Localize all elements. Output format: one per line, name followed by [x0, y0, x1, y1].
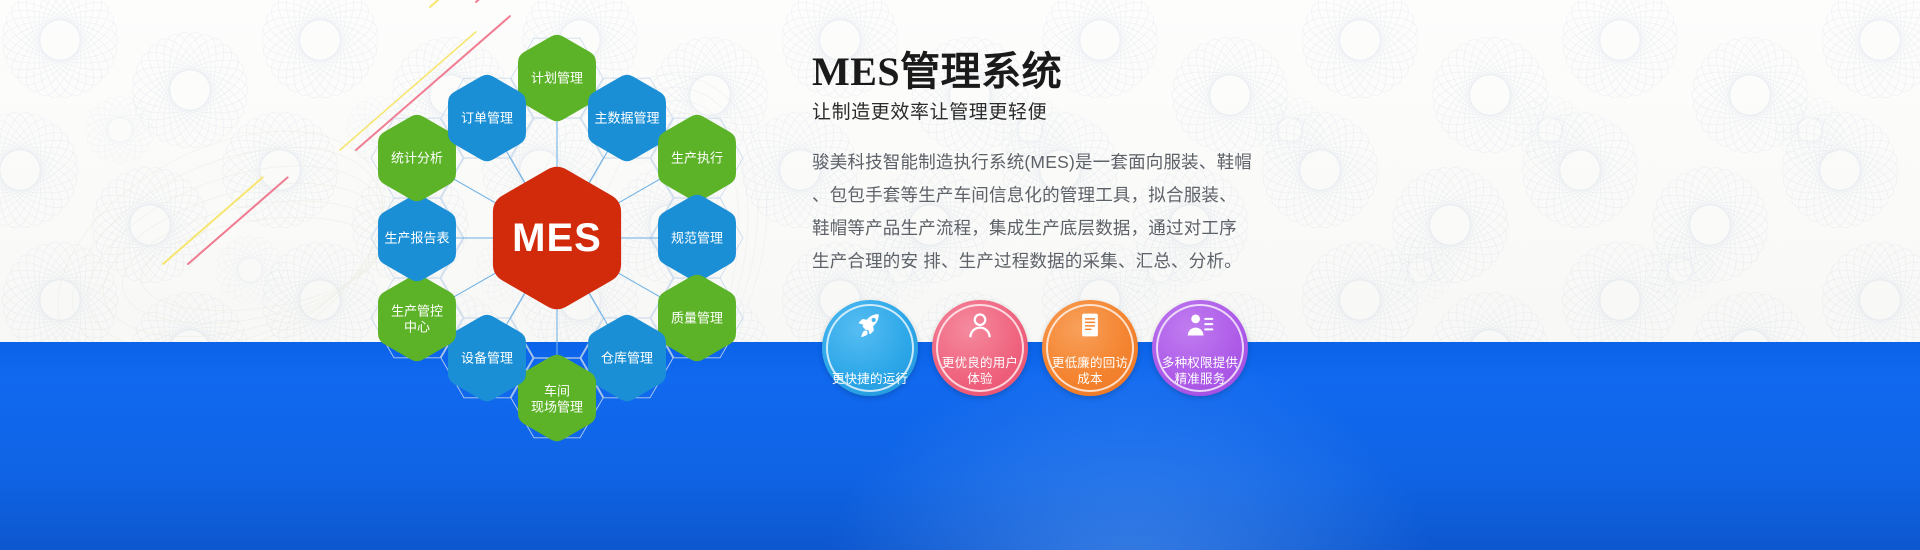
hex-node-label: 生产报告表 — [384, 231, 449, 246]
hex-node-11[interactable]: 统计分析 — [378, 115, 456, 202]
paragraph-line: 鞋帽等产品生产流程，集成生产底层数据，通过对工序 — [812, 212, 1282, 245]
hex-node-9[interactable]: 生产管控中心 — [378, 275, 456, 362]
user-list-icon — [1186, 311, 1214, 339]
hex-node-4[interactable]: 规范管理 — [658, 195, 736, 282]
hex-node-label: 计划管理 — [531, 71, 583, 86]
mes-honeycomb-diagram: 计划管理主数据管理生产执行规范管理质量管理仓库管理车间现场管理设备管理生产管控中… — [330, 10, 790, 440]
badge-faster-operation[interactable]: 更快捷的运行 — [822, 300, 918, 396]
hex-node-6[interactable]: 仓库管理 — [588, 315, 666, 402]
hex-center-label: MES — [512, 216, 602, 260]
hex-node-label: 统计分析 — [391, 151, 443, 166]
hex-node-label: 设备管理 — [461, 351, 513, 366]
hex-node-label: 仓库管理 — [601, 351, 653, 366]
banner-text-block: MES管理系统 让制造更效率让管理更轻便 骏美科技智能制造执行系统(MES)是一… — [812, 48, 1352, 278]
description-paragraph: 骏美科技智能制造执行系统(MES)是一套面向服装、鞋帽 、包包手套等生产车间信息… — [812, 146, 1282, 278]
feature-badge-list: 更快捷的运行 更优良的用户体验 更低廉的回访成本 — [822, 300, 1248, 396]
paragraph-line: 、包包手套等生产车间信息化的管理工具，拟合服装、 — [812, 179, 1282, 212]
hex-node-label: 生产执行 — [671, 151, 723, 166]
hex-node-label: 规范管理 — [671, 231, 723, 246]
hex-node-3[interactable]: 生产执行 — [658, 115, 736, 202]
banner-stage: 计划管理主数据管理生产执行规范管理质量管理仓库管理车间现场管理设备管理生产管控中… — [0, 0, 1920, 550]
badge-better-user-experience[interactable]: 更优良的用户体验 — [932, 300, 1028, 396]
rocket-icon — [856, 311, 884, 339]
badge-label: 更快捷的运行 — [827, 371, 913, 387]
hex-node-2[interactable]: 主数据管理 — [588, 75, 666, 162]
page-title: MES管理系统 — [812, 48, 1352, 95]
hex-node-10[interactable]: 生产报告表 — [378, 195, 456, 282]
badge-lower-revisit-cost[interactable]: 更低廉的回访成本 — [1042, 300, 1138, 396]
badge-label: 更优良的用户体验 — [937, 355, 1023, 387]
hex-node-7[interactable]: 车间现场管理 — [518, 355, 596, 442]
hex-node-12[interactable]: 订单管理 — [448, 75, 526, 162]
hex-node-8[interactable]: 设备管理 — [448, 315, 526, 402]
hex-node-1[interactable]: 计划管理 — [518, 35, 596, 122]
page-subtitle: 让制造更效率让管理更轻便 — [812, 97, 1352, 124]
badge-label: 多种权限提供精准服务 — [1157, 355, 1243, 387]
user-icon — [966, 311, 994, 339]
hex-center-mes[interactable]: MES — [493, 167, 621, 310]
hex-node-5[interactable]: 质量管理 — [658, 275, 736, 362]
hex-node-label: 订单管理 — [461, 111, 513, 126]
hex-node-label: 质量管理 — [671, 311, 723, 326]
paragraph-line: 生产合理的安 排、生产过程数据的采集、汇总、分析。 — [812, 245, 1282, 278]
hex-node-label: 主数据管理 — [594, 111, 659, 126]
badge-multi-permission[interactable]: 多种权限提供精准服务 — [1152, 300, 1248, 396]
document-icon — [1076, 311, 1104, 339]
badge-label: 更低廉的回访成本 — [1047, 355, 1133, 387]
paragraph-line: 骏美科技智能制造执行系统(MES)是一套面向服装、鞋帽 — [812, 146, 1282, 179]
